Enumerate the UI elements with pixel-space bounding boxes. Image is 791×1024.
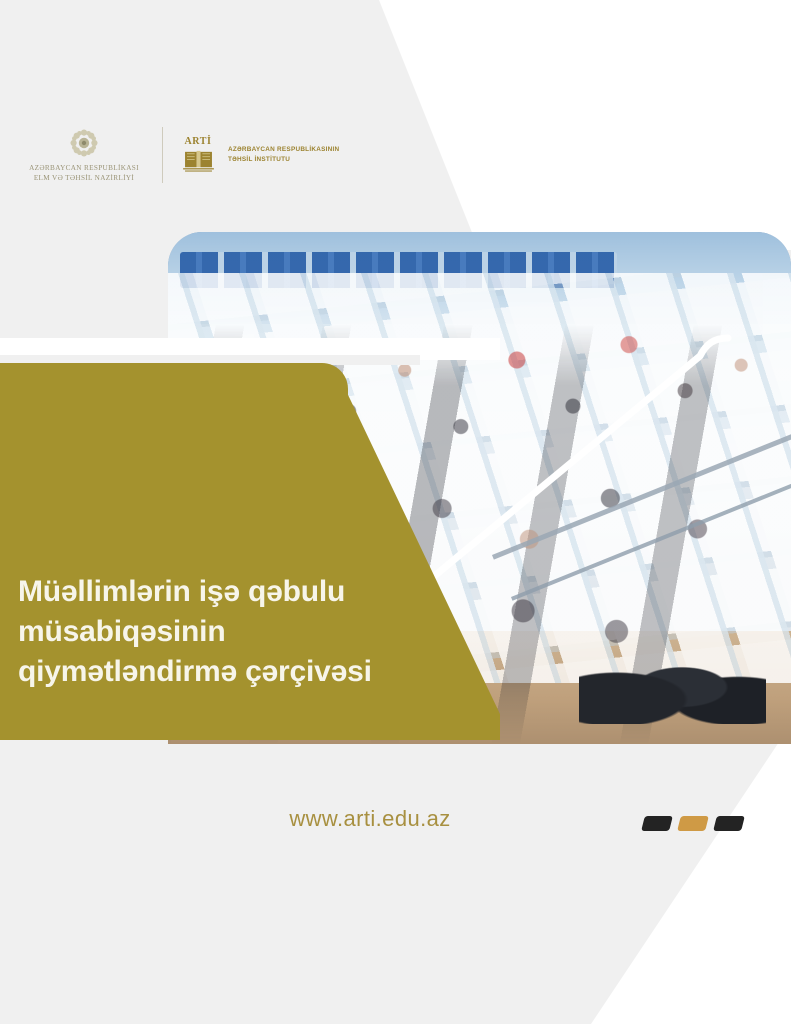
institute-line-2: TƏHSİL İNSTİTUTU bbox=[228, 155, 339, 165]
institute-logo-text: AZƏRBAYCAN RESPUBLİKASININ TƏHSİL İNSTİT… bbox=[228, 145, 339, 164]
ministry-logo-text: AZƏRBAYCAN RESPUBLİKASI ELM VƏ TƏHSİL NA… bbox=[29, 164, 139, 183]
logo-divider bbox=[162, 127, 163, 183]
cover-page: AZƏRBAYCAN RESPUBLİKASI ELM VƏ TƏHSİL NA… bbox=[0, 0, 791, 1024]
decorative-dashes bbox=[643, 816, 743, 831]
arti-wordmark: ARTİ bbox=[184, 137, 211, 147]
page-title: Müəllimlərin işə qəbulu müsabiqəsinin qi… bbox=[18, 572, 448, 693]
arti-mark: ARTİ bbox=[177, 137, 219, 173]
open-book-icon bbox=[182, 148, 215, 173]
institute-logo: ARTİ AZƏRBAYCAN RESPUBLİKASININ TƏHSİL İ… bbox=[177, 137, 339, 173]
photo-bags bbox=[579, 642, 766, 724]
ministry-line-1: AZƏRBAYCAN RESPUBLİKASI bbox=[29, 164, 139, 174]
ministry-line-2: ELM VƏ TƏHSİL NAZİRLİYİ bbox=[29, 174, 139, 184]
dash-1-icon bbox=[641, 816, 673, 831]
website-url[interactable]: www.arti.edu.az bbox=[0, 806, 740, 832]
institute-line-1: AZƏRBAYCAN RESPUBLİKASININ bbox=[228, 145, 339, 155]
dash-3-icon bbox=[713, 816, 745, 831]
dash-2-icon bbox=[677, 816, 709, 831]
gold-title-panel-rounded-corner bbox=[0, 363, 348, 423]
header-logo-bar: AZƏRBAYCAN RESPUBLİKASI ELM VƏ TƏHSİL NA… bbox=[0, 110, 400, 200]
azerbaijan-state-emblem-star-icon bbox=[67, 126, 101, 160]
ministry-logo: AZƏRBAYCAN RESPUBLİKASI ELM VƏ TƏHSİL NA… bbox=[8, 126, 160, 183]
